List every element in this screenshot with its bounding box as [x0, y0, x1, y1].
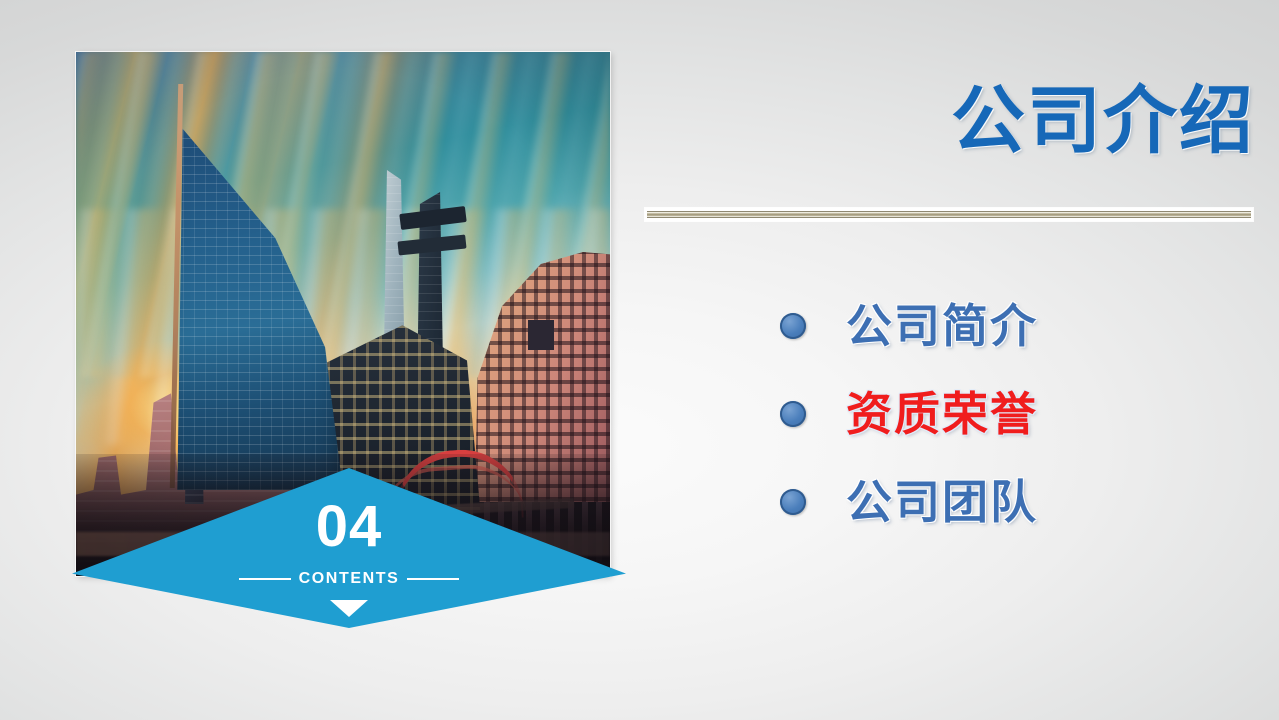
agenda-list: 公司简介 资质荣誉 公司团队 [780, 282, 1038, 546]
bullet-dot-icon [780, 489, 806, 515]
agenda-item-label: 公司简介 [846, 303, 1038, 349]
agenda-item-label: 公司团队 [846, 479, 1038, 525]
presentation-slide: 04 CONTENTS 公司介绍 公司简介 资质荣誉 公司团队 [0, 0, 1279, 720]
agenda-item-company-profile[interactable]: 公司简介 [780, 282, 1038, 370]
agenda-item-company-team[interactable]: 公司团队 [780, 458, 1038, 546]
agenda-item-qualifications-honors[interactable]: 资质荣誉 [780, 370, 1038, 458]
page-title: 公司介绍 [640, 82, 1255, 162]
bullet-dot-icon [780, 313, 806, 339]
right-content-column: 公司介绍 公司简介 资质荣誉 公司团队 [640, 0, 1279, 720]
title-divider-inner [647, 211, 1251, 218]
bullet-dot-icon [780, 401, 806, 427]
title-divider [645, 208, 1253, 221]
agenda-item-label: 资质荣誉 [846, 391, 1038, 437]
pink-building-notch [528, 320, 554, 350]
